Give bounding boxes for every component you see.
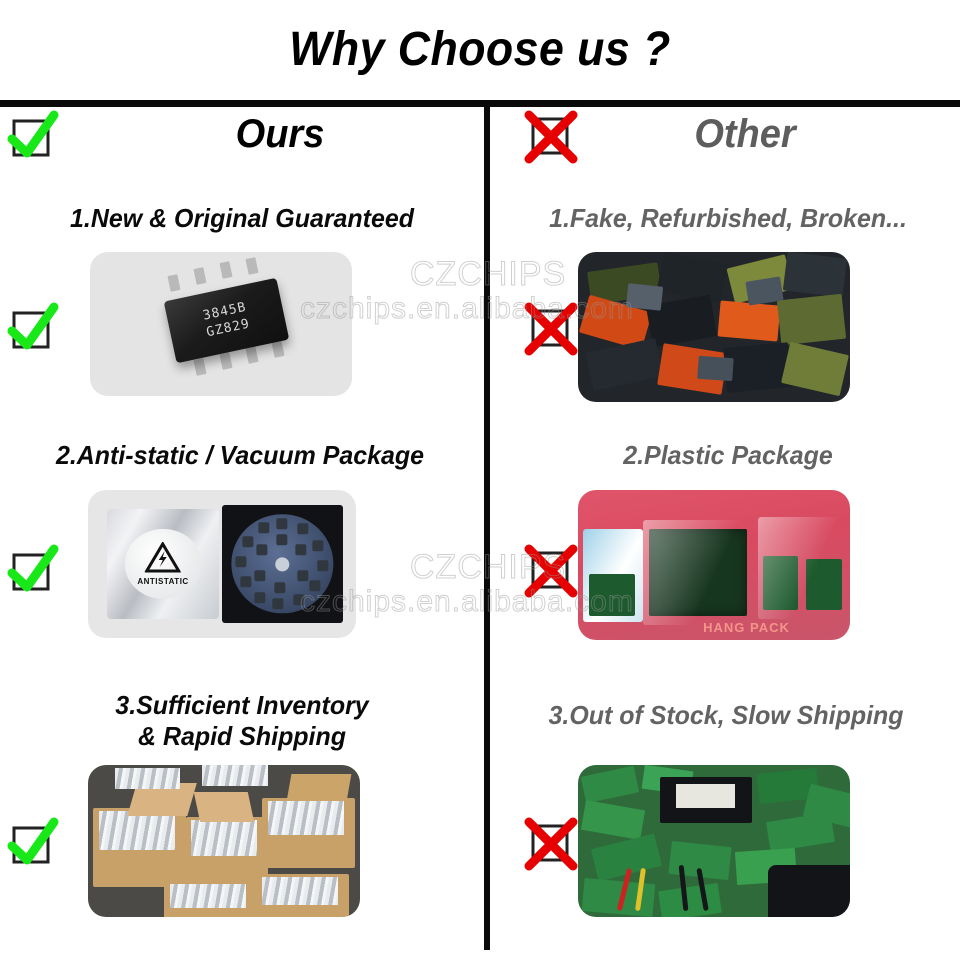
row-3-other-photo [578,765,850,917]
row-1-check-mark-icon [8,303,56,351]
row-3-check-mark-icon [8,818,56,866]
component-tape-reel [222,505,343,623]
row-2-other-heading: 2.Plastic Package [509,440,947,471]
row-1-ours-heading: 1.New & Original Guaranteed [29,203,455,234]
row-3-other-heading: 3.Out of Stock, Slow Shipping [505,700,947,731]
row-2-other-photo: HANG PACK [578,490,850,640]
column-header-other: Other [584,112,907,157]
bag-print-text: HANG PACK [703,620,790,635]
row-3-ours-heading: 3.Sufficient Inventory & Rapid Shipping [29,690,455,751]
row-1-ours-photo: 3845B GZ829 [90,252,352,396]
row-3-ours-photo [88,765,360,917]
static-warning-icon [145,542,181,574]
header-divider-horizontal [0,100,960,107]
black-module [660,777,752,823]
column-header-ours: Ours [119,112,442,157]
header-cross-mark-icon [527,113,575,161]
row-3-cross-mark-icon [527,818,575,866]
row-1-cross-mark-icon [527,303,575,351]
page-title: Why Choose us ? [34,22,927,77]
why-choose-us-infographic: Why Choose us ? Ours Other 1.New & Origi… [0,0,960,960]
row-1-other-photo [578,252,850,402]
antistatic-bag: ANTISTATIC [107,509,220,619]
header-check-mark-icon [8,113,56,161]
column-divider-vertical [484,100,490,950]
row-2-ours-heading: 2.Anti-static / Vacuum Package [17,440,462,471]
row-1-other-heading: 1.Fake, Refurbished, Broken... [509,203,947,234]
row-2-ours-photo: ANTISTATIC [88,490,356,638]
row-2-cross-mark-icon [527,545,575,593]
row-2-check-mark-icon [8,545,56,593]
antistatic-bag-label: ANTISTATIC [137,577,188,586]
